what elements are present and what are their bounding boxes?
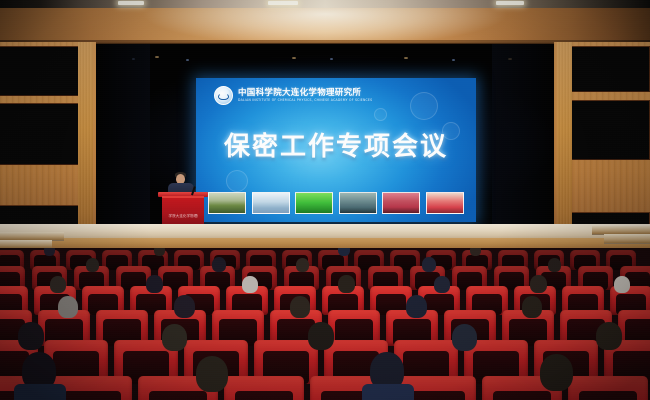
audience-member bbox=[58, 296, 78, 318]
stage-rig-light-3 bbox=[186, 59, 189, 61]
audience-member bbox=[540, 354, 573, 391]
podium-nameplate: 中国科学院大连化学物理研究所 bbox=[168, 212, 198, 218]
thumb-autumn-trees bbox=[382, 192, 420, 214]
stage-curtain-right bbox=[492, 44, 554, 224]
audience-member bbox=[154, 248, 165, 256]
audience-member bbox=[162, 324, 187, 351]
auditorium-photo: 中国科学院大连化学物理研究所 DALIAN INSTITUTE OF CHEMI… bbox=[0, 0, 650, 400]
audience-member bbox=[614, 276, 630, 293]
stage-rig-light-4 bbox=[292, 57, 296, 59]
ceiling-light-2 bbox=[268, 1, 298, 5]
audience-member-body bbox=[14, 384, 66, 400]
audience-member bbox=[548, 258, 561, 272]
audience-member bbox=[212, 257, 226, 272]
institute-name-cn: 中国科学院大连化学物理研究所 bbox=[238, 89, 372, 98]
audience-member bbox=[196, 356, 228, 392]
audience-member bbox=[308, 322, 334, 350]
audience-member bbox=[296, 258, 309, 272]
audience-seating bbox=[0, 248, 650, 400]
audience-member bbox=[406, 295, 427, 318]
audience-member bbox=[470, 248, 481, 256]
thumb-campus-dusk bbox=[339, 192, 377, 214]
audience-member bbox=[422, 257, 436, 272]
acoustic-panel-right-1 bbox=[571, 46, 650, 92]
stage-rig-light-7 bbox=[452, 59, 455, 61]
acoustic-panel-left-1 bbox=[0, 46, 79, 96]
slide-bokeh-1 bbox=[410, 92, 438, 120]
acoustic-panel-right-2 bbox=[571, 100, 650, 160]
stage-rig-light-6 bbox=[404, 57, 408, 59]
led-presentation-screen: 中国科学院大连化学物理研究所 DALIAN INSTITUTE OF CHEMI… bbox=[196, 78, 476, 222]
audience-member bbox=[18, 322, 44, 350]
audience-member bbox=[338, 275, 355, 293]
audience-member bbox=[452, 324, 477, 351]
audience-member bbox=[174, 295, 195, 318]
seat bbox=[224, 376, 304, 400]
audience-member bbox=[50, 276, 66, 293]
slide-thumbnail-strip bbox=[208, 192, 464, 214]
audience-member bbox=[338, 248, 350, 256]
audience-member bbox=[434, 276, 450, 293]
slide-title: 保密工作专项会议 bbox=[196, 126, 476, 163]
audience-member bbox=[146, 275, 163, 293]
audience-member bbox=[522, 296, 542, 318]
institute-logo: 中国科学院大连化学物理研究所 DALIAN INSTITUTE OF CHEMI… bbox=[214, 86, 372, 105]
thumb-landscape-field bbox=[208, 192, 246, 214]
stage-curtain-left bbox=[96, 44, 150, 224]
audience-member-body bbox=[362, 384, 414, 400]
audience-member bbox=[290, 296, 310, 318]
institute-emblem-icon bbox=[214, 86, 233, 105]
thumb-green-foliage bbox=[295, 192, 333, 214]
ceiling-light-3 bbox=[496, 1, 524, 5]
institute-name-en: DALIAN INSTITUTE OF CHEMICAL PHYSICS, CH… bbox=[238, 99, 372, 103]
stage-step-4 bbox=[604, 234, 650, 244]
thumb-winter-building bbox=[252, 192, 290, 214]
ceiling-wood-arch bbox=[0, 8, 650, 42]
slide-bokeh-3 bbox=[374, 108, 387, 121]
acoustic-panel-left-2 bbox=[0, 103, 79, 165]
audience-member bbox=[596, 322, 622, 350]
audience-member bbox=[242, 276, 258, 293]
audience-member bbox=[530, 275, 547, 293]
slide-bokeh-4 bbox=[226, 170, 248, 192]
ceiling-light-1 bbox=[118, 1, 144, 5]
stage-rig-light-2 bbox=[155, 56, 159, 58]
stage-rig-light-5 bbox=[330, 58, 333, 60]
thumb-red-architecture bbox=[426, 192, 464, 214]
seat bbox=[568, 376, 648, 400]
audience-member bbox=[44, 248, 55, 256]
audience-member bbox=[86, 258, 99, 272]
